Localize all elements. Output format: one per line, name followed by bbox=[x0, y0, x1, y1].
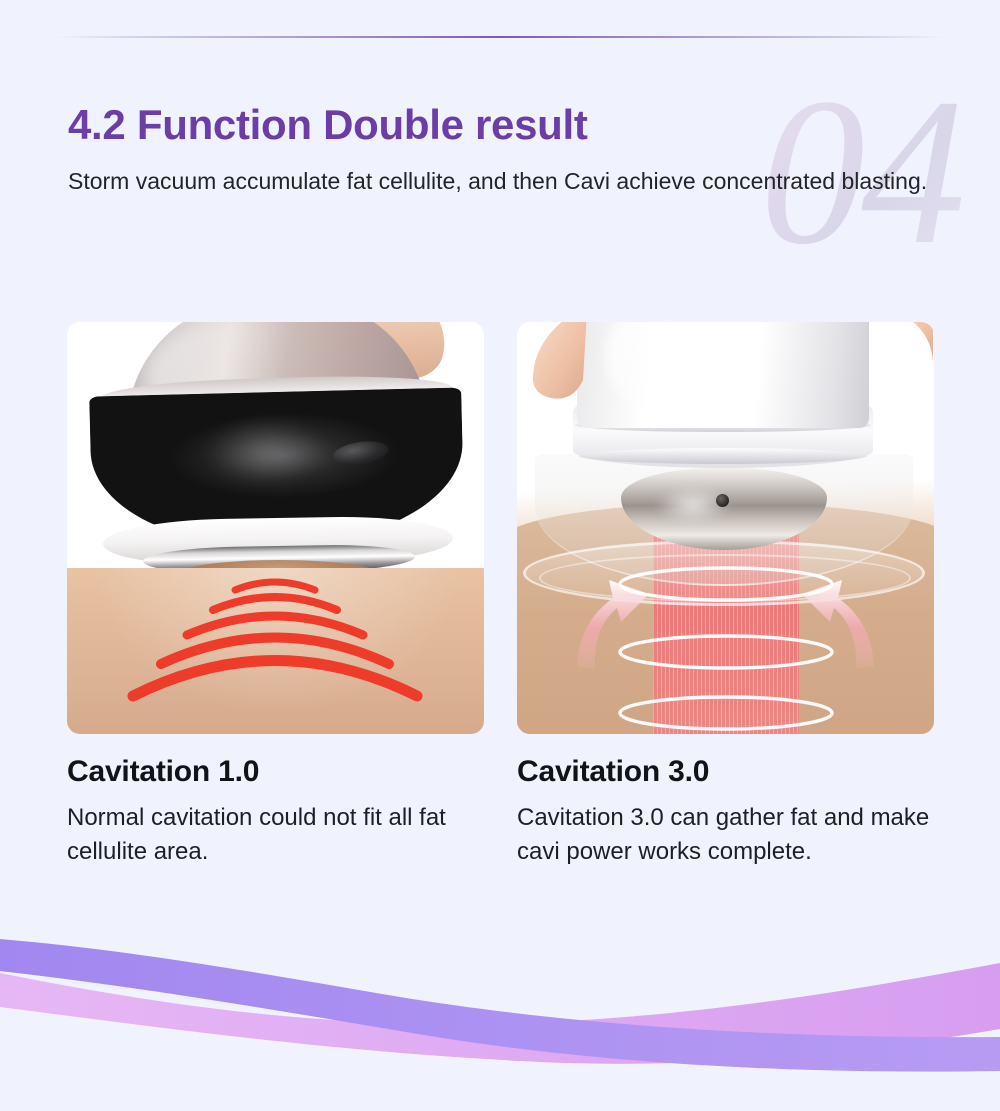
product-feature-page: 04 4.2 Function Double result Storm vacu… bbox=[0, 0, 1000, 1111]
cavitation-3-photo bbox=[517, 322, 934, 734]
cavitation-1-photo bbox=[67, 322, 484, 734]
page-subtitle: Storm vacuum accumulate fat cellulite, a… bbox=[68, 166, 938, 197]
ultrasonic-wave-icon bbox=[67, 322, 484, 734]
card-description: Cavitation 3.0 can gather fat and make c… bbox=[517, 801, 934, 868]
page-title: 4.2 Function Double result bbox=[68, 100, 948, 150]
card-title: Cavitation 1.0 bbox=[67, 755, 484, 789]
hand-and-vacuum-arrows-icon bbox=[517, 322, 934, 734]
heading-block: 4.2 Function Double result Storm vacuum … bbox=[68, 100, 948, 197]
top-divider bbox=[55, 36, 945, 38]
bottom-wave-decoration bbox=[0, 911, 1000, 1111]
card-description: Normal cavitation could not fit all fat … bbox=[67, 801, 484, 868]
comparison-grid: Cavitation 1.0 Normal cavitation could n… bbox=[67, 322, 933, 868]
comparison-card-cavitation-3: Cavitation 3.0 Cavitation 3.0 can gather… bbox=[517, 322, 934, 868]
card-title: Cavitation 3.0 bbox=[517, 755, 934, 789]
comparison-card-cavitation-1: Cavitation 1.0 Normal cavitation could n… bbox=[67, 322, 484, 868]
